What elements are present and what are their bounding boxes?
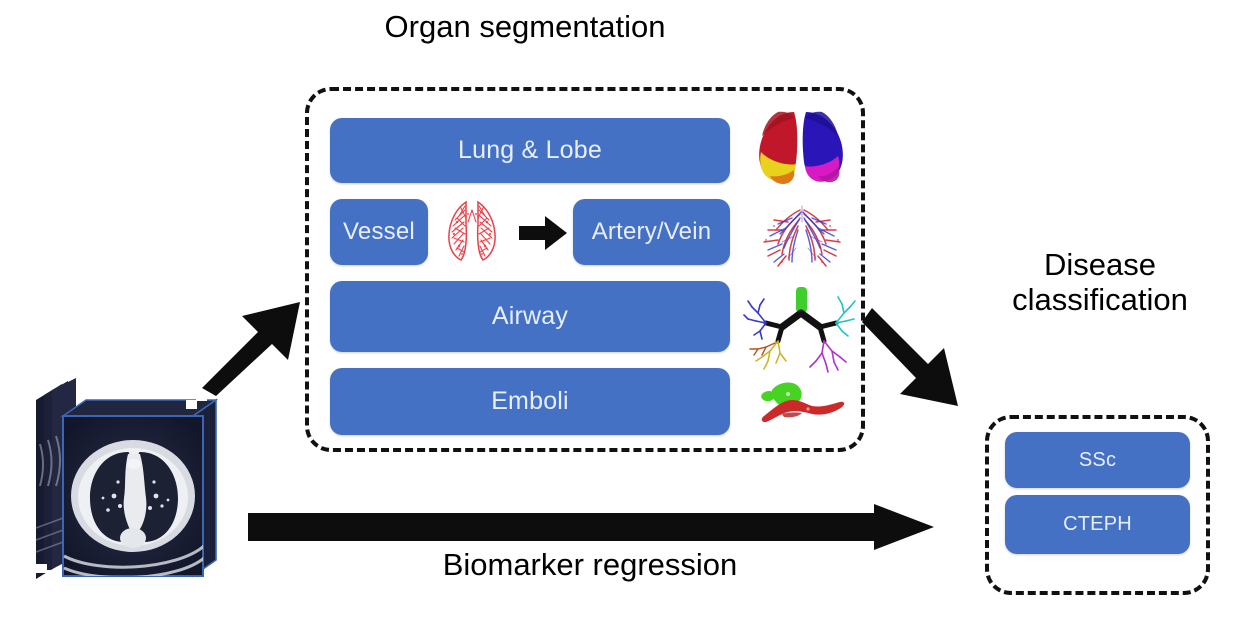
module-chip-vessel[interactable]: Vessel — [330, 199, 428, 265]
figure-canvas: Organ segmentation — [0, 0, 1242, 620]
arrow-biomarker-regression-icon — [248, 504, 934, 550]
module-chip-artery-vein[interactable]: Artery/Vein — [573, 199, 730, 265]
disease-chip-cteph[interactable]: CTEPH — [1005, 495, 1190, 554]
disease-chip-ssc[interactable]: SSc — [1005, 432, 1190, 488]
arrow-vessel-to-arteryvein-icon — [519, 214, 567, 252]
module-chip-lung-lobe[interactable]: Lung & Lobe — [330, 118, 730, 183]
arrow-ct-to-segmentation-icon — [196, 292, 316, 396]
module-chip-emboli[interactable]: Emboli — [330, 368, 730, 435]
organ-segmentation-title: Organ segmentation — [0, 10, 1050, 45]
ct-volume-thumbnail — [28, 378, 218, 603]
biomarker-regression-title: Biomarker regression — [230, 548, 950, 583]
disease-classification-title: Disease classification — [960, 248, 1240, 317]
module-chip-airway[interactable]: Airway — [330, 281, 730, 352]
